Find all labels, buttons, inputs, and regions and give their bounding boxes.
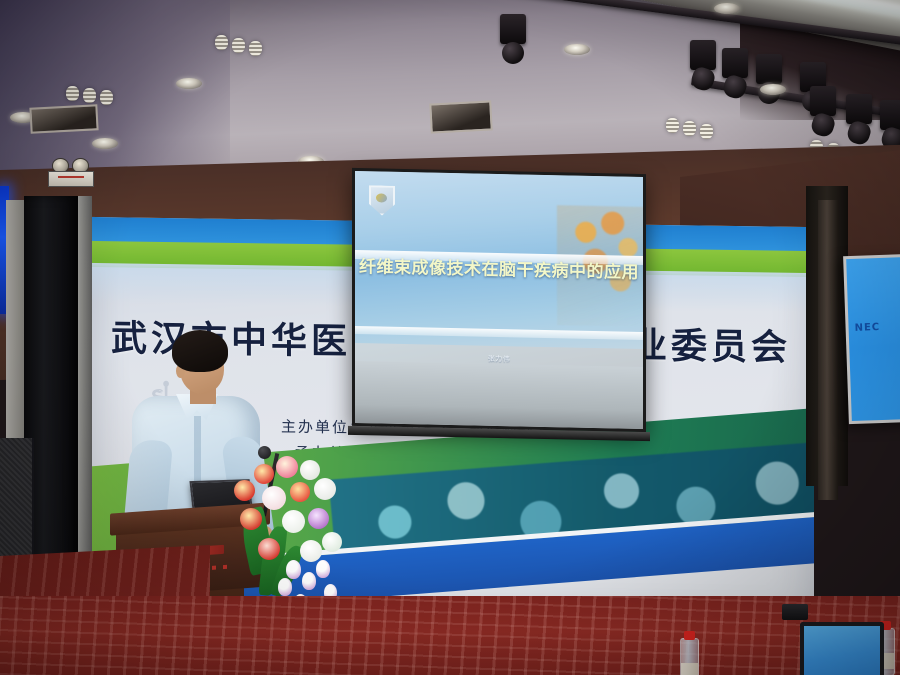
slide-title: 纤维束成像技术在脑干疾病中的应用 [359, 255, 639, 285]
spotlight-icon [690, 40, 716, 90]
shield-emblem-icon [369, 185, 395, 216]
bulb-icon [83, 88, 96, 103]
slide-divider [355, 326, 643, 340]
carpet [0, 596, 900, 675]
spotlight-icon [880, 100, 900, 150]
spotlight-icon [722, 48, 748, 98]
spotlight-icon [846, 94, 872, 144]
downlight-icon [92, 138, 118, 149]
spotlight-icon [500, 14, 526, 64]
emergency-light-icon [52, 158, 89, 173]
downlight-icon [760, 84, 786, 95]
room-pillar-right [818, 200, 838, 500]
ceiling-vent [29, 104, 98, 134]
bulb-icon [666, 118, 679, 133]
bulb-icon [700, 124, 713, 139]
bulb-icon [100, 90, 113, 105]
foreground-monitor [800, 622, 884, 675]
bulb-icon [249, 41, 262, 56]
presentation-slide: 纤维束成像技术在脑干疾病中的应用 张力伟 首都医科大学附属北京天坛医院神经外科 [355, 171, 643, 349]
bulb-icon [215, 35, 228, 50]
foreground-device [782, 604, 808, 620]
downlight-icon [176, 78, 202, 89]
water-bottle [680, 638, 699, 675]
presenter-hair [172, 330, 228, 372]
bulb-icon [66, 86, 79, 101]
nec-logo-text: NEC [854, 322, 880, 334]
ceiling-vent [429, 100, 492, 133]
bulb-icon [232, 38, 245, 53]
spotlight-icon [756, 54, 782, 104]
downlight-icon [714, 3, 740, 14]
secondary-projection-screen: NEC [843, 254, 900, 424]
bulb-icon [683, 121, 696, 136]
spotlight-icon [810, 86, 836, 136]
downlight-icon [564, 44, 590, 55]
projection-screen: 纤维束成像技术在脑干疾病中的应用 张力伟 首都医科大学附属北京天坛医院神经外科 [352, 168, 646, 432]
screen-blank-area [355, 361, 643, 429]
conference-photo: ⚕ ⚕ ⚕ 武汉市中华医学会神经外科专业委员会 主办单位：武汉市医学会神经外科专… [0, 0, 900, 675]
